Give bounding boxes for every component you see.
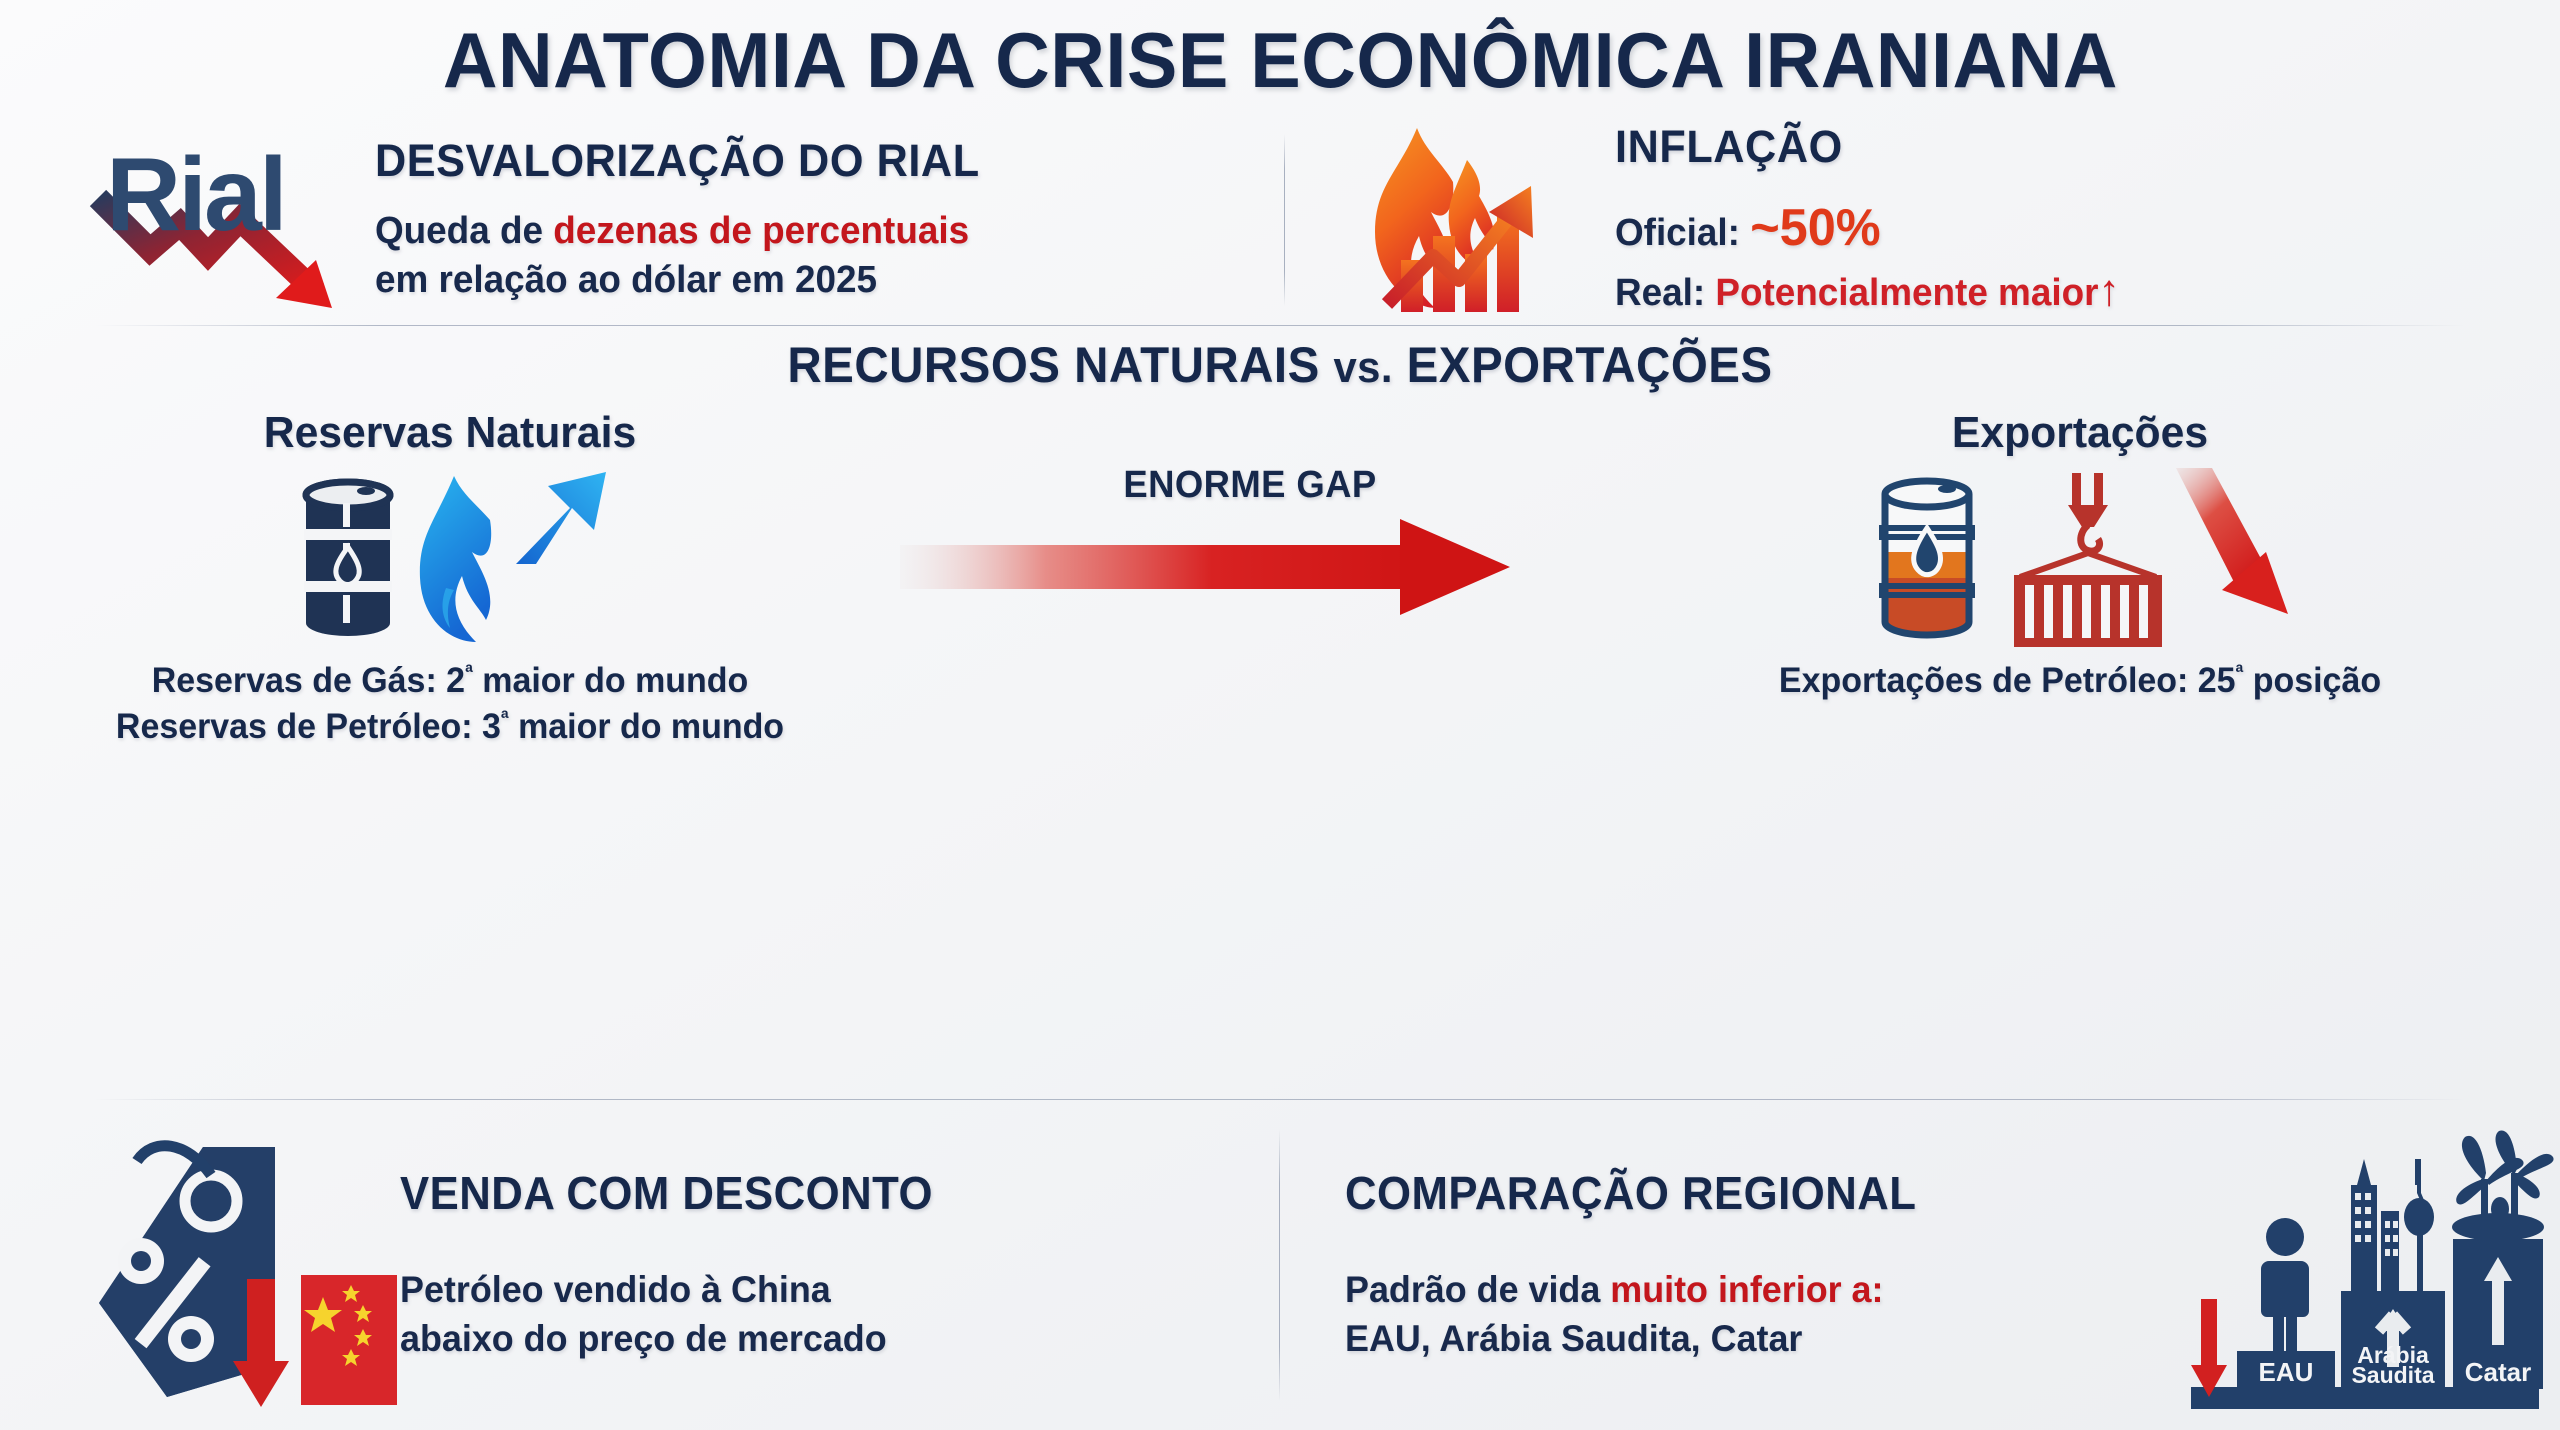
- discount-price-tag-icon: [70, 1115, 400, 1415]
- title-bar: ANATOMIA DA CRISE ECONÔMICA IRANIANA: [0, 0, 2560, 120]
- reservas-caption-gas: Reservas de Gás: 2ª maior do mundo: [14, 658, 887, 704]
- recursos-heading-vs: vs.: [1333, 343, 1393, 392]
- row-rial-inflacao: Rial DESVALORIZAÇÃO DO RIAL Queda de dez…: [0, 120, 2560, 320]
- page-title: ANATOMIA DA CRISE ECONÔMICA IRANIANA: [443, 15, 2118, 106]
- shipping-container-crane-icon: [1998, 467, 2168, 652]
- desconto-text-block: VENDA COM DESCONTO Petróleo vendido à Ch…: [400, 1166, 1280, 1364]
- rial-line1-highlight: dezenas de percentuais: [553, 210, 969, 252]
- section-desvalorizacao-rial: Rial DESVALORIZAÇÃO DO RIAL Queda de dez…: [0, 120, 1285, 320]
- inflacao-official-value: ~50%: [1750, 199, 1880, 257]
- infographic-root: ANATOMIA DA CRISE ECONÔMICA IRANIANA: [0, 0, 2560, 1430]
- down-arrow-red-icon: [2170, 464, 2295, 629]
- bar-label-eau: EAU: [2259, 1357, 2314, 1387]
- exportacoes-column: Exportações: [1600, 408, 2560, 704]
- reservas-subheading: Reservas Naturais: [14, 408, 887, 458]
- desconto-line-1: Petróleo vendido à China: [400, 1266, 1254, 1315]
- reservas-column: Reservas Naturais: [0, 408, 900, 749]
- comparacao-line1-highlight: muito inferior a:: [1610, 1269, 1883, 1310]
- gap-column: ENORME GAP: [900, 408, 1600, 635]
- reservas-petroleo-b: maior do mundo: [509, 707, 784, 746]
- comparacao-text-block: COMPARAÇÃO REGIONAL Padrão de vida muito…: [1315, 1166, 2160, 1364]
- section-inflacao: INFLAÇÃO Oficial: ~50% Real: Potencialme…: [1285, 120, 2560, 320]
- flame-rising-bars-icon: [1325, 120, 1615, 320]
- inflacao-text-block: INFLAÇÃO Oficial: ~50% Real: Potencialme…: [1615, 121, 2560, 320]
- exportacoes-icon-group: [1600, 464, 2560, 654]
- comparacao-heading: COMPARAÇÃO REGIONAL: [1345, 1166, 2119, 1220]
- bar-label-arabia-2: Saudita: [2351, 1362, 2434, 1388]
- up-arrow-red-icon: ↑: [2098, 266, 2119, 315]
- comparacao-line1-prefix: Padrão de vida: [1345, 1269, 1610, 1310]
- inflacao-heading: INFLAÇÃO: [1615, 121, 2522, 173]
- rial-text-block: DESVALORIZAÇÃO DO RIAL Queda de dezenas …: [375, 135, 1285, 306]
- desconto-line-2: abaixo do preço de mercado: [400, 1315, 1254, 1364]
- comparacao-line-2: EAU, Arábia Saudita, Catar: [1345, 1315, 2136, 1364]
- reservas-caption-petroleo: Reservas de Petróleo: 3ª maior do mundo: [14, 704, 887, 750]
- exportacoes-caption: Exportações de Petróleo: 25ª posição: [1614, 658, 2545, 704]
- exportacoes-caption-a: Exportações de Petróleo: 25: [1779, 661, 2236, 700]
- rial-heading: DESVALORIZAÇÃO DO RIAL: [375, 135, 1249, 187]
- recursos-heading-part2: EXPORTAÇÕES: [1393, 337, 1773, 393]
- recursos-body: Reservas Naturais: [0, 408, 2560, 749]
- section-recursos-exportacoes: RECURSOS NATURAIS vs. EXPORTAÇÕES Reserv…: [0, 320, 2560, 1100]
- inflacao-real-label: Real:: [1615, 272, 1715, 314]
- recursos-heading: RECURSOS NATURAIS vs. EXPORTAÇÕES: [64, 336, 2496, 394]
- reservas-gas-b: maior do mundo: [473, 661, 748, 700]
- gas-flame-blue-icon: [410, 472, 520, 647]
- exportacoes-caption-b: posição: [2243, 661, 2381, 700]
- rial-line-1: Queda de dezenas de percentuais: [375, 207, 1258, 256]
- inflacao-real-line: Real: Potencialmente maior↑: [1615, 262, 2532, 319]
- gap-label: ENORME GAP: [914, 464, 1586, 507]
- inflacao-real-value: Potencialmente maior: [1715, 272, 2098, 314]
- reservas-icon-group: [0, 464, 900, 654]
- row-desconto-comparacao: VENDA COM DESCONTO Petróleo vendido à Ch…: [0, 1100, 2560, 1430]
- desconto-heading: VENDA COM DESCONTO: [400, 1166, 1236, 1220]
- reservas-gas-a: Reservas de Gás: 2: [152, 661, 465, 700]
- section-comparacao-regional: COMPARAÇÃO REGIONAL Padrão de vida muito…: [1280, 1115, 2560, 1415]
- oil-barrel-orange-icon: [1865, 474, 1990, 644]
- bar-label-catar: Catar: [2465, 1357, 2531, 1387]
- svg-text:Rial: Rial: [106, 137, 285, 253]
- reservas-petroleo-sup: ª: [501, 705, 509, 730]
- rial-down-arrow-icon: Rial: [75, 120, 375, 320]
- recursos-heading-part1: RECURSOS NATURAIS: [787, 337, 1333, 393]
- section-venda-com-desconto: VENDA COM DESCONTO Petróleo vendido à Ch…: [0, 1115, 1280, 1415]
- rial-line-2: em relação ao dólar em 2025: [375, 256, 1258, 305]
- enorme-gap-arrow-icon: [900, 515, 1590, 635]
- exportacoes-subheading: Exportações: [1614, 408, 2545, 458]
- inflacao-official-label: Oficial:: [1615, 212, 1750, 254]
- reservas-gas-sup: ª: [465, 659, 473, 684]
- comparacao-line-1: Padrão de vida muito inferior a:: [1345, 1266, 2136, 1315]
- up-arrow-blue-icon: [508, 464, 613, 574]
- reservas-petroleo-a: Reservas de Petróleo: 3: [116, 707, 501, 746]
- rial-line1-prefix: Queda de: [375, 210, 553, 252]
- regional-bar-chart-icon: EAU Arábia Saudita: [2160, 1115, 2560, 1415]
- oil-barrel-dark-icon: [288, 477, 408, 642]
- inflacao-official-line: Oficial: ~50%: [1615, 195, 2532, 263]
